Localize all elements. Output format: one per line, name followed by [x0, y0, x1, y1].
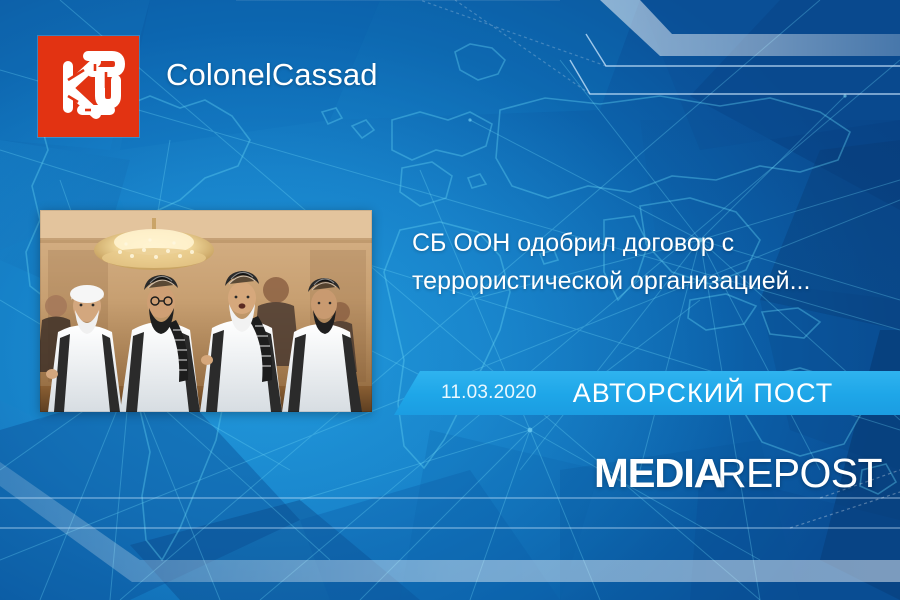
lj-chain-logo-glyph: [38, 36, 139, 137]
watermark-light-text: REPOST: [717, 450, 882, 497]
post-meta-bar: 11.03.2020 АВТОРСКИЙ ПОСТ: [394, 371, 900, 415]
article-headline: СБ ООН одобрил договор с террористическо…: [412, 224, 854, 300]
article-photo[interactable]: [40, 210, 372, 412]
lj-chain-logo-icon: [38, 36, 139, 137]
watermark-bold-text: MEDIA: [594, 450, 723, 497]
mediarepost-watermark: MEDIA REPOST: [594, 450, 882, 497]
news-card: ColonelCassad: [0, 0, 900, 600]
blog-title: ColonelCassad: [166, 57, 378, 93]
post-category-label: АВТОРСКИЙ ПОСТ: [573, 378, 834, 409]
post-date: 11.03.2020: [441, 382, 537, 404]
taliban-delegation-photo-illustration: [40, 210, 372, 412]
